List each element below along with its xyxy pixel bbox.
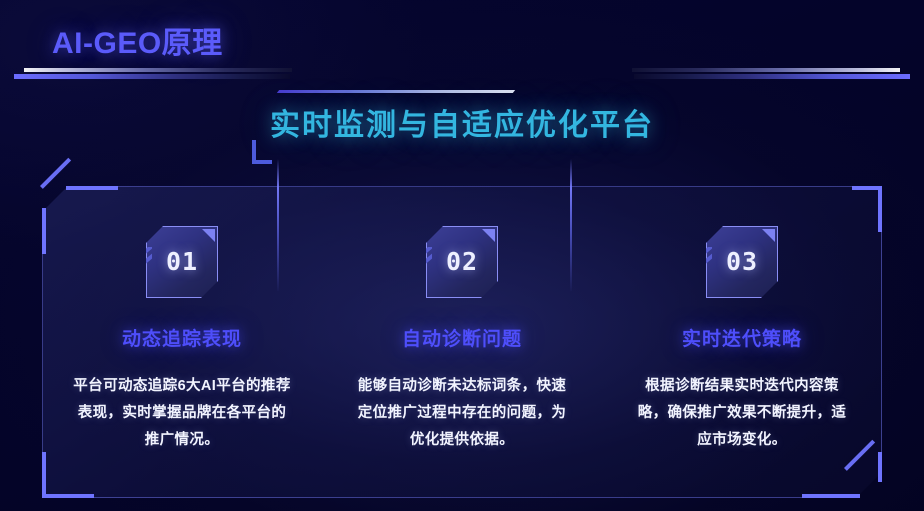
feature-title-1: 动态追踪表现 — [122, 324, 242, 351]
step-badge-2: 02 — [426, 226, 498, 298]
corner-bracket-icon — [252, 140, 272, 164]
step-badge-3: 03 — [706, 226, 778, 298]
feature-columns: 01 动态追踪表现 平台可动态追踪6大AI平台的推荐表现，实时掌握品牌在各平台的… — [42, 186, 882, 498]
subtitle: 实时监测与自适应优化平台 — [0, 100, 924, 144]
slide-root: AI-GEO原理 实时监测与自适应优化平台 01 动态追踪表现 平台可动态追踪6… — [0, 0, 924, 511]
header-divider-left-top — [24, 68, 292, 72]
feature-column-1: 01 动态追踪表现 平台可动态追踪6大AI平台的推荐表现，实时掌握品牌在各平台的… — [42, 186, 322, 498]
badge-stripes-icon — [416, 247, 432, 281]
badge-triangle-icon — [762, 229, 775, 242]
step-badge-number: 02 — [446, 247, 478, 276]
header-divider-left-bottom — [14, 74, 290, 79]
badge-stripes-icon — [136, 247, 152, 281]
feature-body-3: 根据诊断结果实时迭代内容策略，确保推广效果不断提升，适应市场变化。 — [631, 373, 853, 454]
feature-column-3: 03 实时迭代策略 根据诊断结果实时迭代内容策略，确保推广效果不断提升，适应市场… — [602, 186, 882, 498]
badge-triangle-icon — [482, 229, 495, 242]
feature-title-2: 自动诊断问题 — [402, 324, 522, 351]
feature-column-2: 02 自动诊断问题 能够自动诊断未达标词条，快速定位推广过程中存在的问题，为优化… — [322, 186, 602, 498]
badge-stripes-icon — [696, 247, 712, 281]
page-title: AI-GEO原理 — [52, 18, 223, 62]
feature-title-3: 实时迭代策略 — [682, 324, 802, 351]
header-divider-right-bottom — [634, 74, 910, 79]
step-badge-number: 01 — [166, 247, 198, 276]
subtitle-slash-decoration — [277, 90, 515, 93]
feature-body-1: 平台可动态追踪6大AI平台的推荐表现，实时掌握品牌在各平台的推广情况。 — [71, 373, 293, 454]
step-badge-1: 01 — [146, 226, 218, 298]
step-badge-number: 03 — [726, 247, 758, 276]
header-divider-right-top — [632, 68, 900, 72]
feature-body-2: 能够自动诊断未达标词条，快速定位推广过程中存在的问题，为优化提供依据。 — [351, 373, 573, 454]
badge-triangle-icon — [202, 229, 215, 242]
